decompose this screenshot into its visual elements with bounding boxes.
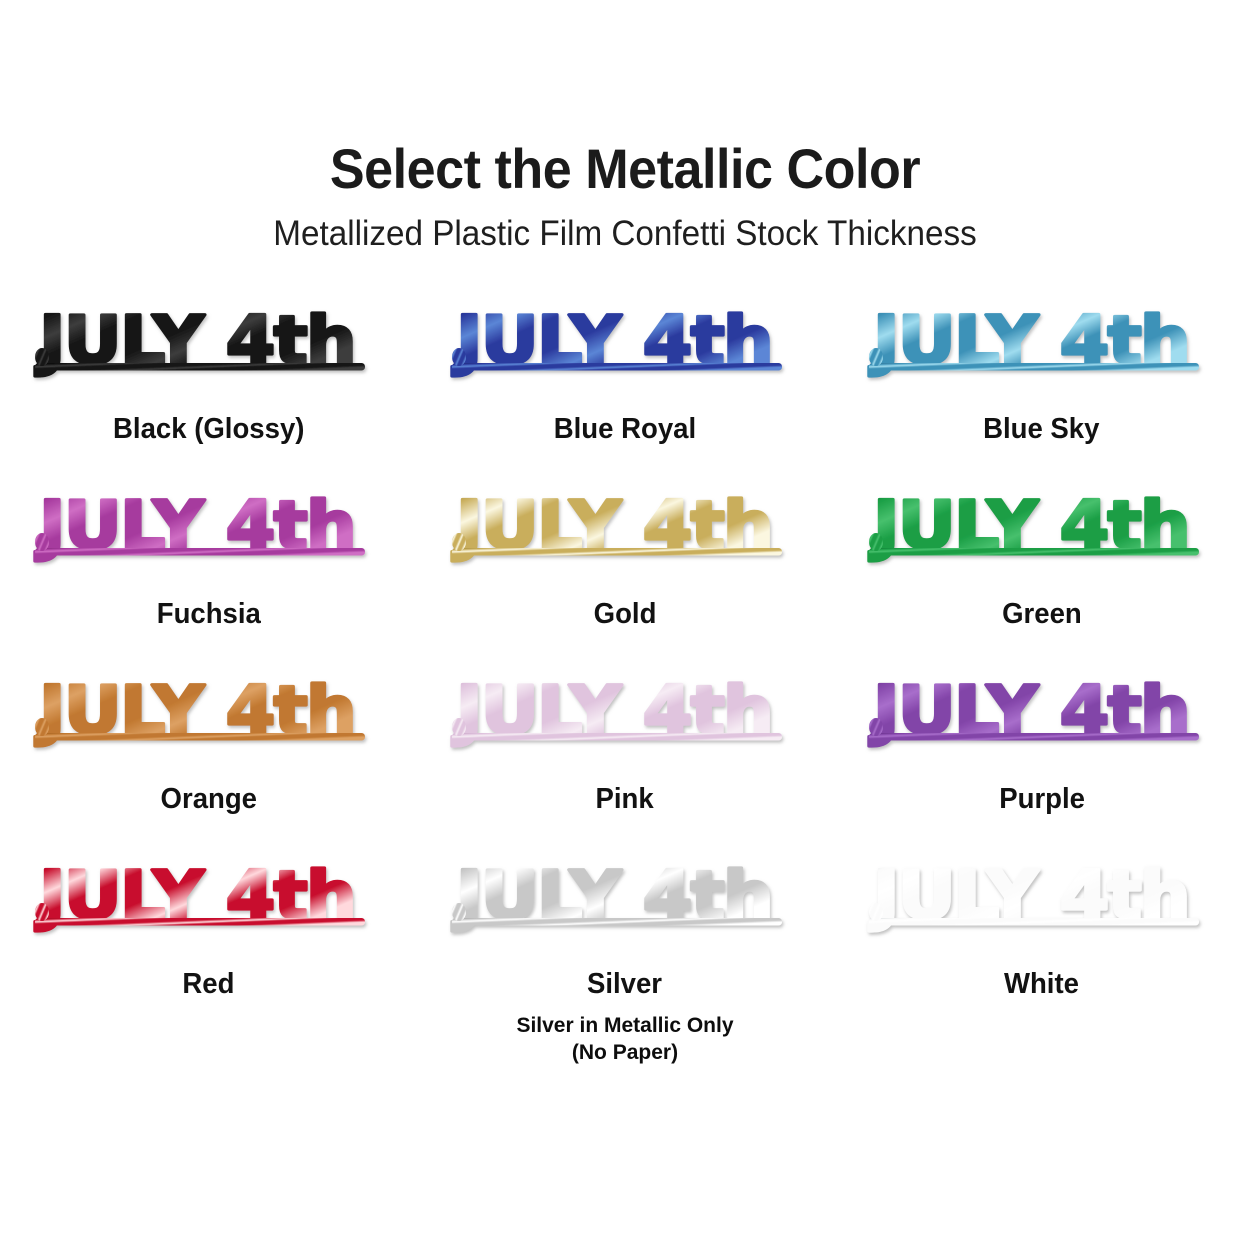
page-header: Select the Metallic Color Metallized Pla…	[0, 0, 1250, 253]
color-name-label: Green	[1002, 598, 1082, 631]
wordart-baseline-bar	[35, 918, 365, 926]
color-swatch-option[interactable]: JULY 4thBlue Royal	[417, 299, 834, 484]
wordart-baseline-bar	[452, 733, 782, 741]
july-4th-confetti-graphic[interactable]: JULY 4th	[450, 484, 800, 576]
july-4th-confetti-graphic[interactable]: JULY 4th	[450, 854, 800, 946]
july-4th-confetti-graphic[interactable]: JULY 4th	[33, 669, 383, 761]
wordart-baseline-bar	[869, 548, 1199, 556]
wordart-baseline-bar	[35, 733, 365, 741]
page-title: Select the Metallic Color	[44, 140, 1207, 199]
wordart-baseline-bar	[452, 548, 782, 556]
july-4th-confetti-graphic[interactable]: JULY 4th	[867, 299, 1217, 391]
wordart-j-foot	[869, 348, 883, 366]
color-swatch-option[interactable]: JULY 4thBlue Sky	[833, 299, 1250, 484]
wordart-baseline-bar	[35, 548, 365, 556]
wordart-baseline-bar	[35, 363, 365, 371]
july-4th-confetti-graphic[interactable]: JULY 4th	[867, 854, 1217, 946]
color-swatch-grid: JULY 4thBlack (Glossy)JULY 4thBlue Royal…	[0, 299, 1250, 1039]
color-name-label: Pink	[596, 783, 654, 816]
wordart-j-foot	[452, 903, 466, 921]
color-swatch-option[interactable]: JULY 4thFuchsia	[0, 484, 417, 669]
wordart-j-foot	[452, 348, 466, 366]
color-selection-page: Select the Metallic Color Metallized Pla…	[0, 0, 1250, 1250]
page-subtitle: Metallized Plastic Film Confetti Stock T…	[31, 215, 1219, 254]
color-name-label: Gold	[594, 598, 657, 631]
color-swatch-option[interactable]: JULY 4thPink	[417, 669, 834, 854]
july-4th-confetti-graphic[interactable]: JULY 4th	[33, 299, 383, 391]
color-name-label: Orange	[160, 783, 256, 816]
color-swatch-option[interactable]: JULY 4thWhite	[833, 854, 1250, 1039]
wordart-baseline-bar	[869, 733, 1199, 741]
color-swatch-option[interactable]: JULY 4thBlack (Glossy)	[0, 299, 417, 484]
july-4th-confetti-graphic[interactable]: JULY 4th	[450, 669, 800, 761]
color-swatch-option[interactable]: JULY 4thSilverSilver in Metallic Only(No…	[417, 854, 834, 1039]
wordart-j-foot	[869, 903, 883, 921]
wordart-j-foot	[35, 348, 49, 366]
color-name-label: Black (Glossy)	[113, 413, 304, 446]
color-swatch-option[interactable]: JULY 4thGreen	[833, 484, 1250, 669]
color-name-label: Blue Sky	[983, 413, 1099, 446]
color-availability-note: Silver in Metallic Only(No Paper)	[516, 1013, 733, 1067]
wordart-baseline-bar	[869, 918, 1199, 926]
july-4th-confetti-graphic[interactable]: JULY 4th	[33, 484, 383, 576]
wordart-j-foot	[869, 533, 883, 551]
color-name-label: Purple	[999, 783, 1085, 816]
color-name-label: Silver	[587, 968, 662, 1001]
color-name-label: Red	[182, 968, 234, 1001]
wordart-j-foot	[35, 533, 49, 551]
color-name-label: White	[1004, 968, 1079, 1001]
wordart-j-foot	[452, 718, 466, 736]
wordart-baseline-bar	[452, 363, 782, 371]
wordart-baseline-bar	[452, 918, 782, 926]
wordart-j-foot	[35, 718, 49, 736]
wordart-j-foot	[869, 718, 883, 736]
july-4th-confetti-graphic[interactable]: JULY 4th	[33, 854, 383, 946]
color-swatch-option[interactable]: JULY 4thOrange	[0, 669, 417, 854]
wordart-baseline-bar	[869, 363, 1199, 371]
color-swatch-option[interactable]: JULY 4thPurple	[833, 669, 1250, 854]
color-swatch-option[interactable]: JULY 4thGold	[417, 484, 834, 669]
july-4th-confetti-graphic[interactable]: JULY 4th	[450, 299, 800, 391]
color-swatch-option[interactable]: JULY 4thRed	[0, 854, 417, 1039]
wordart-j-foot	[452, 533, 466, 551]
july-4th-confetti-graphic[interactable]: JULY 4th	[867, 484, 1217, 576]
color-name-label: Blue Royal	[554, 413, 696, 446]
wordart-j-foot	[35, 903, 49, 921]
july-4th-confetti-graphic[interactable]: JULY 4th	[867, 669, 1217, 761]
color-name-label: Fuchsia	[156, 598, 260, 631]
